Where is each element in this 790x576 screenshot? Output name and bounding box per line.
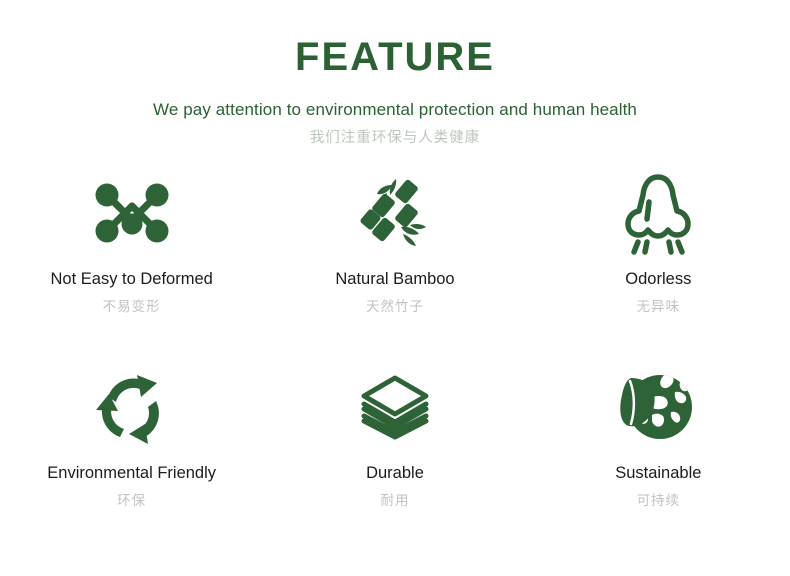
globe-leaf-icon <box>615 364 701 450</box>
recycle-icon <box>89 364 175 450</box>
layers-stack-icon <box>352 364 438 450</box>
feature-item: Environmental Friendly 环保 <box>0 364 263 516</box>
subtitle-chinese: 我们注重环保与人类健康 <box>0 130 790 147</box>
feature-row: Not Easy to Deformed 不易变形 <box>0 170 790 322</box>
subtitle-english: We pay attention to environmental protec… <box>0 100 790 120</box>
molecule-nodes-icon <box>89 170 175 256</box>
feature-label-cn: 可持续 <box>637 493 681 509</box>
feature-item: Not Easy to Deformed 不易变形 <box>0 170 263 322</box>
feature-label-en: Natural Bamboo <box>335 270 454 290</box>
bamboo-icon <box>352 170 438 256</box>
feature-label-en: Environmental Friendly <box>47 464 216 484</box>
feature-row: Environmental Friendly 环保 <box>0 364 790 516</box>
feature-section: FEATURE We pay attention to environmenta… <box>0 0 790 576</box>
page-title: FEATURE <box>0 36 790 78</box>
section-header: FEATURE We pay attention to environmenta… <box>0 0 790 148</box>
feature-label-en: Durable <box>366 464 424 484</box>
feature-item: Odorless 无异味 <box>527 170 790 322</box>
feature-label-en: Not Easy to Deformed <box>51 270 213 290</box>
feature-label-cn: 耐用 <box>380 493 409 509</box>
feature-item: Natural Bamboo 天然竹子 <box>263 170 526 322</box>
feature-label-en: Odorless <box>625 270 691 290</box>
feature-grid: Not Easy to Deformed 不易变形 <box>0 170 790 516</box>
feature-item: Sustainable 可持续 <box>527 364 790 516</box>
feature-label-en: Sustainable <box>615 464 701 484</box>
feature-label-cn: 不易变形 <box>103 299 161 315</box>
feature-item: Durable 耐用 <box>263 364 526 516</box>
feature-label-cn: 无异味 <box>637 299 681 315</box>
feature-label-cn: 环保 <box>117 493 146 509</box>
feature-label-cn: 天然竹子 <box>366 299 424 315</box>
nose-icon <box>615 170 701 256</box>
